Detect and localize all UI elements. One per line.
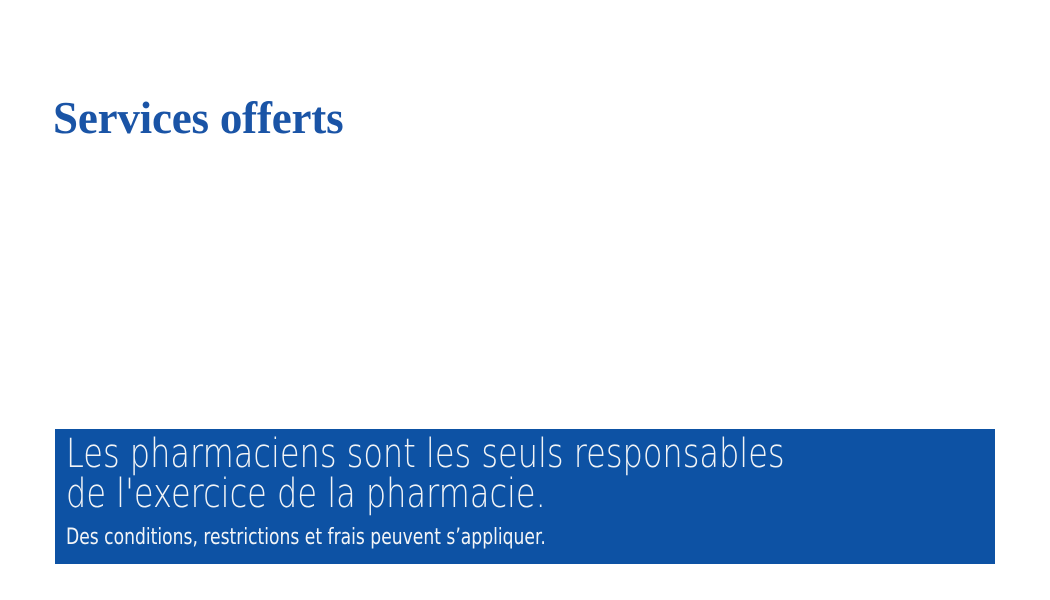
callout-subline: Des conditions, restrictions et frais pe…	[66, 525, 995, 551]
page-title: Services offerts	[53, 92, 343, 144]
callout-headline: Les pharmaciens sont les seuls responsab…	[66, 434, 995, 514]
callout-banner: Les pharmaciens sont les seuls responsab…	[55, 429, 995, 564]
slide-canvas: Services offerts Les pharmaciens sont le…	[0, 0, 1050, 600]
